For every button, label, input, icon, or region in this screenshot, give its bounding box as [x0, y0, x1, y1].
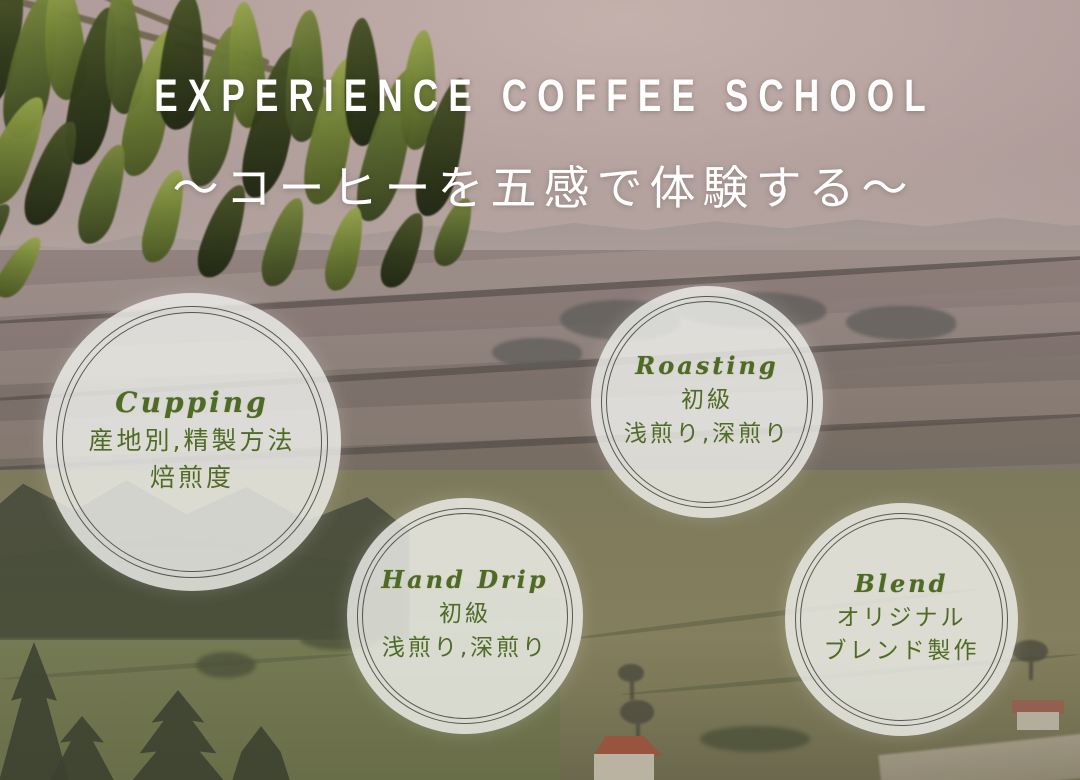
course-detail-line: 産地別,精製方法 [61, 423, 323, 459]
poster-canvas: EXPERIENCE COFFEE SCHOOL 〜コーヒーを五感で体験する〜 … [0, 0, 1080, 780]
course-circle-roasting[interactable]: Roasting 初級 浅煎り,深煎り [591, 286, 823, 518]
course-detail-line: ブレンド製作 [799, 635, 1004, 668]
course-title-en: Roasting [605, 353, 809, 378]
page-title: EXPERIENCE COFFEE SCHOOL [119, 70, 961, 122]
course-title-en: Hand Drip [361, 567, 569, 592]
course-detail-line: 初級 [361, 598, 569, 631]
course-circle-blend[interactable]: Blend オリジナル ブレンド製作 [785, 503, 1018, 736]
course-detail-line: 浅煎り,深煎り [361, 632, 569, 665]
page-subtitle: 〜コーヒーを五感で体験する〜 [0, 152, 1080, 218]
course-circle-cupping[interactable]: Cupping 産地別,精製方法 焙煎度 [43, 293, 341, 591]
course-title-en: Cupping [61, 388, 323, 417]
course-title-en: Blend [799, 571, 1004, 596]
course-detail-line: 浅煎り,深煎り [605, 418, 809, 451]
course-detail-line: 初級 [605, 384, 809, 417]
course-circle-hand-drip[interactable]: Hand Drip 初級 浅煎り,深煎り [347, 498, 583, 734]
course-detail-line: オリジナル [799, 602, 1004, 635]
course-detail-line: 焙煎度 [61, 460, 323, 496]
